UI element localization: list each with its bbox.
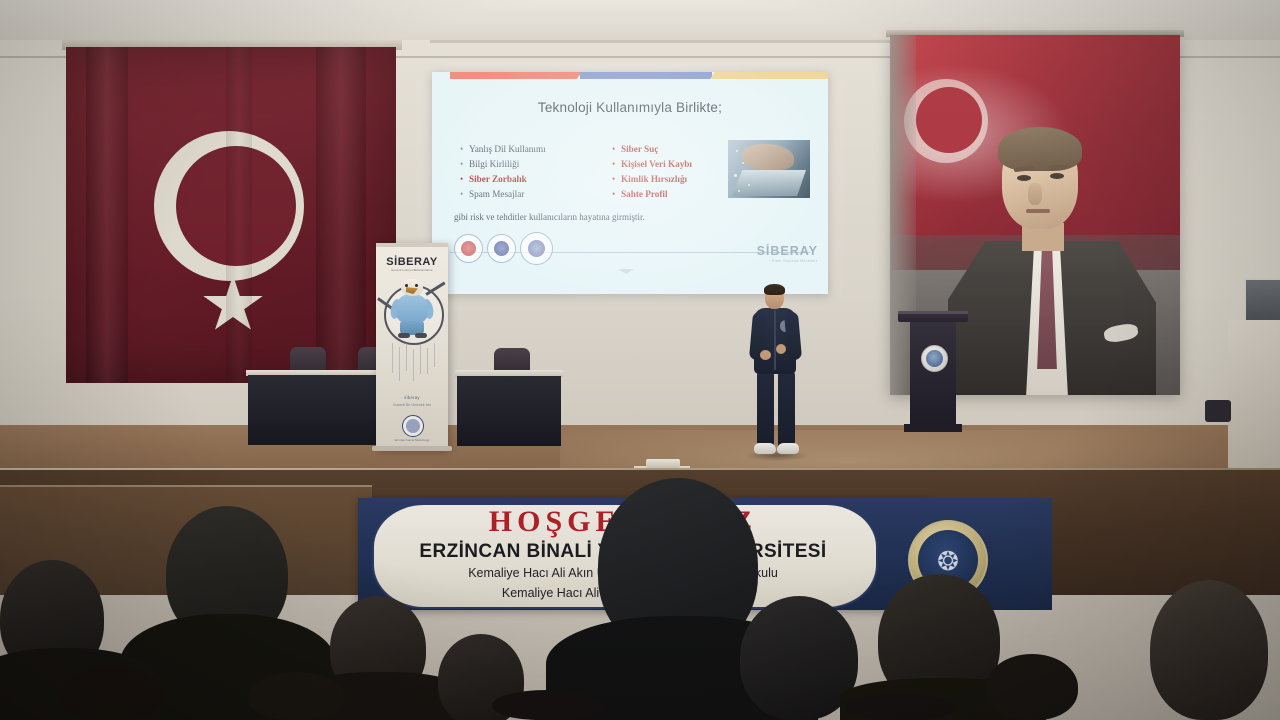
stage-equipment-top [646,459,680,468]
projection-slide: Teknoloji Kullanımıyla Birlikte; •Yanlış… [432,72,828,294]
security-logo-icon [520,232,553,265]
slide-bullets-right: •Siber Suç •Kişisel Veri Kaybı •Kimlik H… [612,142,732,202]
rollup-seal-icon [402,415,424,437]
police-logo-icon [487,234,516,263]
list-item: •Spam Mesajlar [460,187,600,202]
list-item: •Siber Zorbalık [460,172,600,187]
photograph-scene: Teknoloji Kullanımıyla Birlikte; •Yanlış… [0,0,1280,720]
rollup-top-rail [376,243,448,247]
portrait-eye-left [1017,175,1031,181]
slide-photo-laptop [728,140,810,198]
siberay-wordmark: SİBERAY [722,244,818,258]
mascot-eye-left [405,284,408,287]
speaker-hand-left [760,350,771,360]
audience-head [492,690,602,720]
accent-bar-red [450,72,582,79]
rollup-brand-sub: Guvenli Internet Bilinclendirme [376,269,448,272]
list-item: •Siber Suç [612,142,732,157]
table [457,376,561,446]
turkish-flag-wall [66,47,396,383]
portrait-mouth [1026,209,1050,213]
slide-closing-line: gibi risk ve tehditler kullanıcıların ha… [454,212,784,222]
list-item: •Kimlik Hırsızlığı [612,172,732,187]
slide-bullets-left: •Yanlış Dil Kullanımı •Bilgi Kirliliği •… [460,142,600,202]
portrait-eye-right [1050,173,1064,179]
laptop-illustration [732,170,806,196]
speaker-hair [764,284,785,295]
speaker-shoe-right [777,443,799,454]
portrait-nose [1028,183,1042,205]
list-item: •Yanlış Dil Kullanımı [460,142,600,157]
rollup-seal-label: Emniyet Genel Mudurlugu [376,438,448,442]
audience-head [1150,580,1268,720]
lectern-emblem-icon [921,345,948,372]
speaker-hand-right [776,344,786,354]
rollup-base [372,446,452,451]
speaker-jacket-zip [774,310,776,370]
wall-seam-upper [430,40,910,43]
hand-illustration [742,144,794,170]
audience-head [60,668,164,720]
ministry-logo-icon [454,234,483,263]
screen-notch [618,269,634,274]
mascot-eye-right [415,284,418,287]
list-item: •Sahte Profil [612,187,732,202]
wall-monitor [1244,278,1280,326]
portrait-crescent-cutout [916,87,982,153]
speaker-leg-right [778,370,795,448]
speaker-shoe-left [754,443,776,454]
rollup-seal-inner [406,419,420,433]
portrait-hair [998,127,1082,171]
mascot-shoe-left [398,333,410,338]
speaker-leg-left [757,370,774,448]
audience-head [248,672,344,720]
audience-head [986,654,1078,720]
accent-bar-blue [580,72,712,79]
siberay-rollup-banner: SİBERAY Guvenli Internet Bilinclendirme … [376,243,448,450]
rollup-social-sub: Guvenli Bir Gelecek Icin [376,403,448,407]
mascot-shoe-right [415,333,427,338]
floor-object-right [1205,400,1231,422]
rollup-brand: SİBERAY [376,256,448,268]
lectern-top-highlight [898,311,968,314]
lectern-body [910,322,956,430]
list-item: •Bilgi Kirliliği [460,157,600,172]
accent-bar-yellow [710,72,828,79]
rollup-social-handle: siberay [376,395,448,400]
siberay-wordmark-sub: Siber Suçlarla Mücadele [722,259,818,263]
lectern-base [904,424,962,432]
audience-head [846,694,956,720]
lectern-emblem-inner [926,350,943,367]
slide-title: Teknoloji Kullanımıyla Birlikte; [432,100,828,115]
right-wall-panel [1228,320,1280,485]
mascot-body [396,294,428,324]
list-item: •Kişisel Veri Kaybı [612,157,732,172]
